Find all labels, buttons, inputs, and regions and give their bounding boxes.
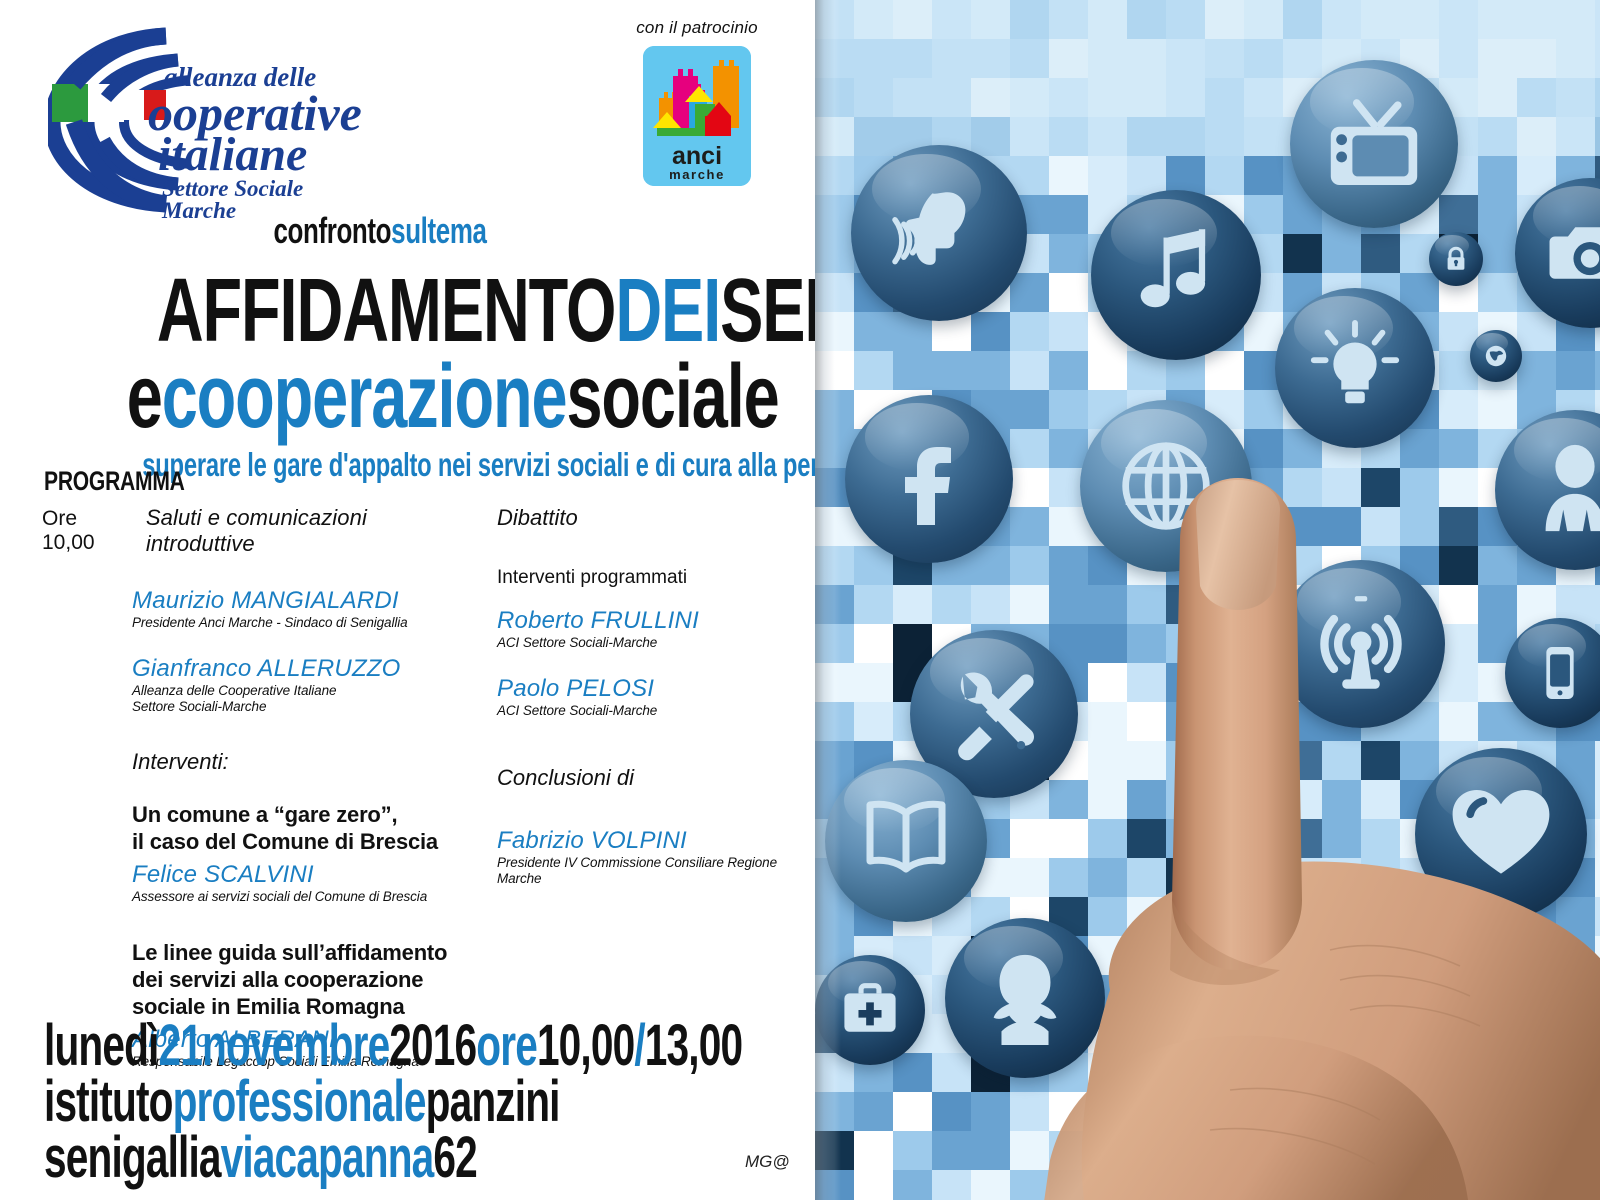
footer-info-block: lunedì21novembre2016ore10,00/13,00 istit…	[44, 1018, 804, 1186]
speech-icon	[851, 145, 1027, 321]
alleanza-cooperative-logo: alleanza delle ooperative italiane Setto…	[48, 18, 368, 218]
subtitle-text: superare le gare d'appalto nei servizi s…	[142, 448, 874, 482]
speaker-name: Maurizio MANGIALARDI	[132, 587, 462, 615]
poster-root: alleanza delle ooperative italiane Setto…	[0, 0, 1600, 1200]
conclusioni-speaker-name: Fabrizio VOLPINI	[497, 827, 807, 855]
conclusioni-speaker-role: Presidente IV Commissione Consiliare Reg…	[497, 855, 807, 887]
title-block: confrontosultema AFFIDAMENTODEISERVIZI e…	[0, 212, 760, 482]
facebook-icon	[845, 395, 1013, 563]
dibattito-label: Dibattito	[497, 505, 807, 531]
main-title-line-1: AFFIDAMENTODEISERVIZI	[0, 268, 760, 354]
talk-speaker: Felice SCALVINI	[132, 861, 462, 889]
speaker-role: ACI Settore Sociali-Marche	[497, 635, 807, 651]
speaker-role-line2: Settore Sociali-Marche	[132, 699, 462, 715]
time-label: Ore 10,00	[42, 507, 130, 555]
talk-title-line2: il caso del Comune di Brescia	[132, 828, 462, 855]
kicker-line: confrontosultema	[0, 212, 760, 250]
speaker-role: Presidente Anci Marche - Sindaco di Seni…	[132, 615, 462, 631]
footer-venue-line: istitutoprofessionalepanzini	[44, 1074, 576, 1130]
tv-icon	[1290, 60, 1458, 228]
anci-region: marche	[669, 167, 725, 182]
interventi-programmati-label: Interventi programmati	[497, 567, 807, 589]
pointing-hand-image	[1030, 470, 1600, 1200]
left-content-panel: alleanza delle ooperative italiane Setto…	[0, 0, 815, 1200]
alleanza-line3: italiane	[158, 128, 307, 181]
talk-title-line1: Un comune a “gare zero”,	[132, 801, 462, 828]
talk-entry: Un comune a “gare zero”, il caso del Com…	[132, 801, 462, 905]
footer-l3-c: 62	[433, 1125, 476, 1190]
lock-icon	[1429, 232, 1483, 286]
speaker-role: ACI Settore Sociali-Marche	[497, 703, 807, 719]
interventi-label-wrapper: Interventi:	[132, 749, 462, 775]
anci-name: anci	[672, 142, 722, 170]
time-session-title: Saluti e comunicazioni introduttive	[146, 505, 462, 557]
footer-l1-f: /	[634, 1013, 644, 1078]
title2-b: cooperazione	[162, 347, 567, 447]
programme-right-column: Dibattito Interventi programmati Roberto…	[497, 505, 807, 887]
time-row: Ore 10,00 Saluti e comunicazioni introdu…	[42, 505, 462, 557]
kicker-part1: confronto	[273, 210, 391, 251]
patrocinio-label: con il patrocinio	[612, 18, 782, 38]
title2-a: e	[127, 347, 162, 447]
footer-l1-g: 13,00	[645, 1013, 742, 1078]
speaker-entry: Fabrizio VOLPINI Presidente IV Commissio…	[497, 827, 807, 887]
talk-title-line1: Le linee guida sull’affidamento	[132, 939, 462, 966]
talk-speaker-role: Assessore ai servizi sociali del Comune …	[132, 889, 462, 905]
speaker-role-line1: Alleanza delle Cooperative Italiane	[132, 683, 462, 699]
programma-heading: PROGRAMMA	[44, 466, 185, 497]
title1-b: DEI	[615, 261, 720, 361]
programme-left-column: Ore 10,00 Saluti e comunicazioni introdu…	[42, 505, 462, 1070]
speaker-entry: Roberto FRULLINI ACI Settore Sociali-Mar…	[497, 607, 807, 651]
conclusioni-label: Conclusioni di	[497, 765, 807, 791]
title2-c: sociale	[566, 347, 778, 447]
interventi-label: Interventi:	[132, 749, 462, 775]
kicker-part2: sultema	[391, 210, 486, 251]
footer-l3-a: senigallia	[44, 1125, 221, 1190]
speaker-name: Gianfranco ALLERUZZO	[132, 655, 462, 683]
designer-signature: MG@	[745, 1152, 790, 1172]
patrocinio-block: con il patrocinio	[612, 18, 782, 186]
footer-date-line: lunedì21novembre2016ore10,00/13,00	[44, 1018, 576, 1074]
main-title-line-2: ecooperazionesociale	[0, 354, 760, 440]
speaker-name: Roberto FRULLINI	[497, 607, 807, 635]
hero-image-panel	[815, 0, 1600, 1200]
footer-address-line: senigalliaviacapanna62	[44, 1130, 576, 1186]
title1-a: AFFIDAMENTO	[157, 261, 615, 361]
speaker-entry: Maurizio MANGIALARDI Presidente Anci Mar…	[132, 587, 462, 631]
lightbulb-icon	[1275, 288, 1435, 448]
anci-marche-logo: anci marche	[643, 46, 751, 186]
speaker-name: Paolo PELOSI	[497, 675, 807, 703]
small-globe-icon	[1470, 330, 1522, 382]
speaker-entry: Gianfranco ALLERUZZO Alleanza delle Coop…	[132, 655, 462, 715]
book-icon	[825, 760, 987, 922]
music-note-icon	[1091, 190, 1261, 360]
talk-title-line2: dei servizi alla cooperazione	[132, 966, 462, 993]
speaker-entry: Paolo PELOSI ACI Settore Sociali-Marche	[497, 675, 807, 719]
panel-left-edge-shadow	[815, 0, 841, 1200]
footer-l3-b: viacapanna	[221, 1125, 434, 1190]
